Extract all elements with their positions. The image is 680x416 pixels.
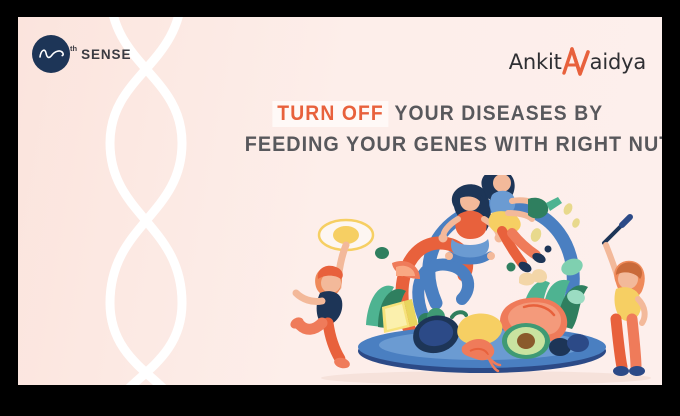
banner-frame: th SENSE Ankit aidya TURN OFF YOUR DISEA… — [0, 0, 680, 416]
headline-line-1-rest: YOUR DISEASES BY — [388, 102, 603, 125]
sixth-sense-wordmark: SENSE — [81, 47, 131, 62]
sixth-sense-superscript: th — [70, 44, 77, 53]
headline-highlight: TURN OFF — [273, 101, 389, 127]
woman-holding-fork — [604, 217, 645, 376]
ankit-vaidya-second-part: aidya — [590, 52, 646, 73]
ankit-vaidya-logo[interactable]: Ankit aidya — [509, 39, 646, 73]
headline-line-2: FEEDING YOUR GENES WITH RIGHT NUTRITION — [245, 129, 631, 160]
ankit-vaidya-first-part: Ankit — [509, 52, 562, 73]
sixth-sense-logo[interactable]: th SENSE — [32, 35, 131, 73]
ankit-vaidya-av-monogram-icon — [561, 43, 595, 73]
poster-canvas: th SENSE Ankit aidya TURN OFF YOUR DISEA… — [18, 17, 662, 385]
headline-line-1: TURN OFF YOUR DISEASES BY — [245, 99, 631, 129]
nutrition-illustration — [286, 175, 662, 385]
headline-block: TURN OFF YOUR DISEASES BY FEEDING YOUR G… — [228, 99, 648, 161]
sixth-sense-wave-icon — [32, 35, 70, 73]
